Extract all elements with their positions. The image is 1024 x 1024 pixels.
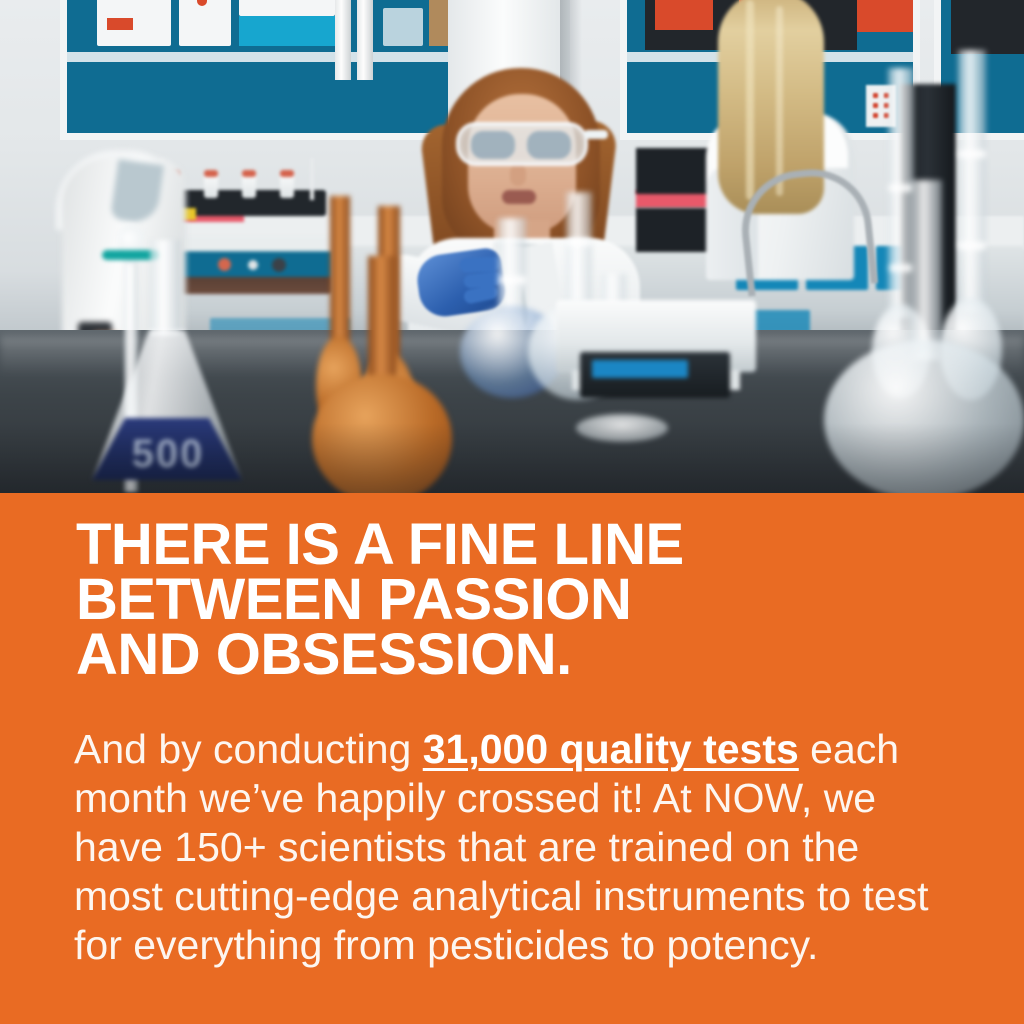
page-title: THERE IS A FINE LINE BETWEEN PASSION AND…: [76, 517, 976, 682]
laboratory-photo: 500: [0, 0, 1024, 493]
photo-bottom-vignette: [0, 423, 1024, 493]
analytical-balance: [580, 352, 730, 398]
social-graphic-canvas: 500: [0, 0, 1024, 1024]
headline-line-1: THERE IS A FINE LINE: [76, 517, 976, 572]
orange-message-panel: THERE IS A FINE LINE BETWEEN PASSION AND…: [0, 493, 1024, 1024]
body-copy: And by conducting 31,000 quality tests e…: [74, 725, 954, 970]
stat-highlight-quality-tests: 31,000 quality tests: [423, 726, 799, 772]
body-text-before: And by conducting: [74, 726, 423, 772]
headline-line-2: BETWEEN PASSION: [76, 572, 976, 627]
headline-line-3: AND OBSESSION.: [76, 627, 976, 682]
safety-goggles: [456, 122, 588, 166]
